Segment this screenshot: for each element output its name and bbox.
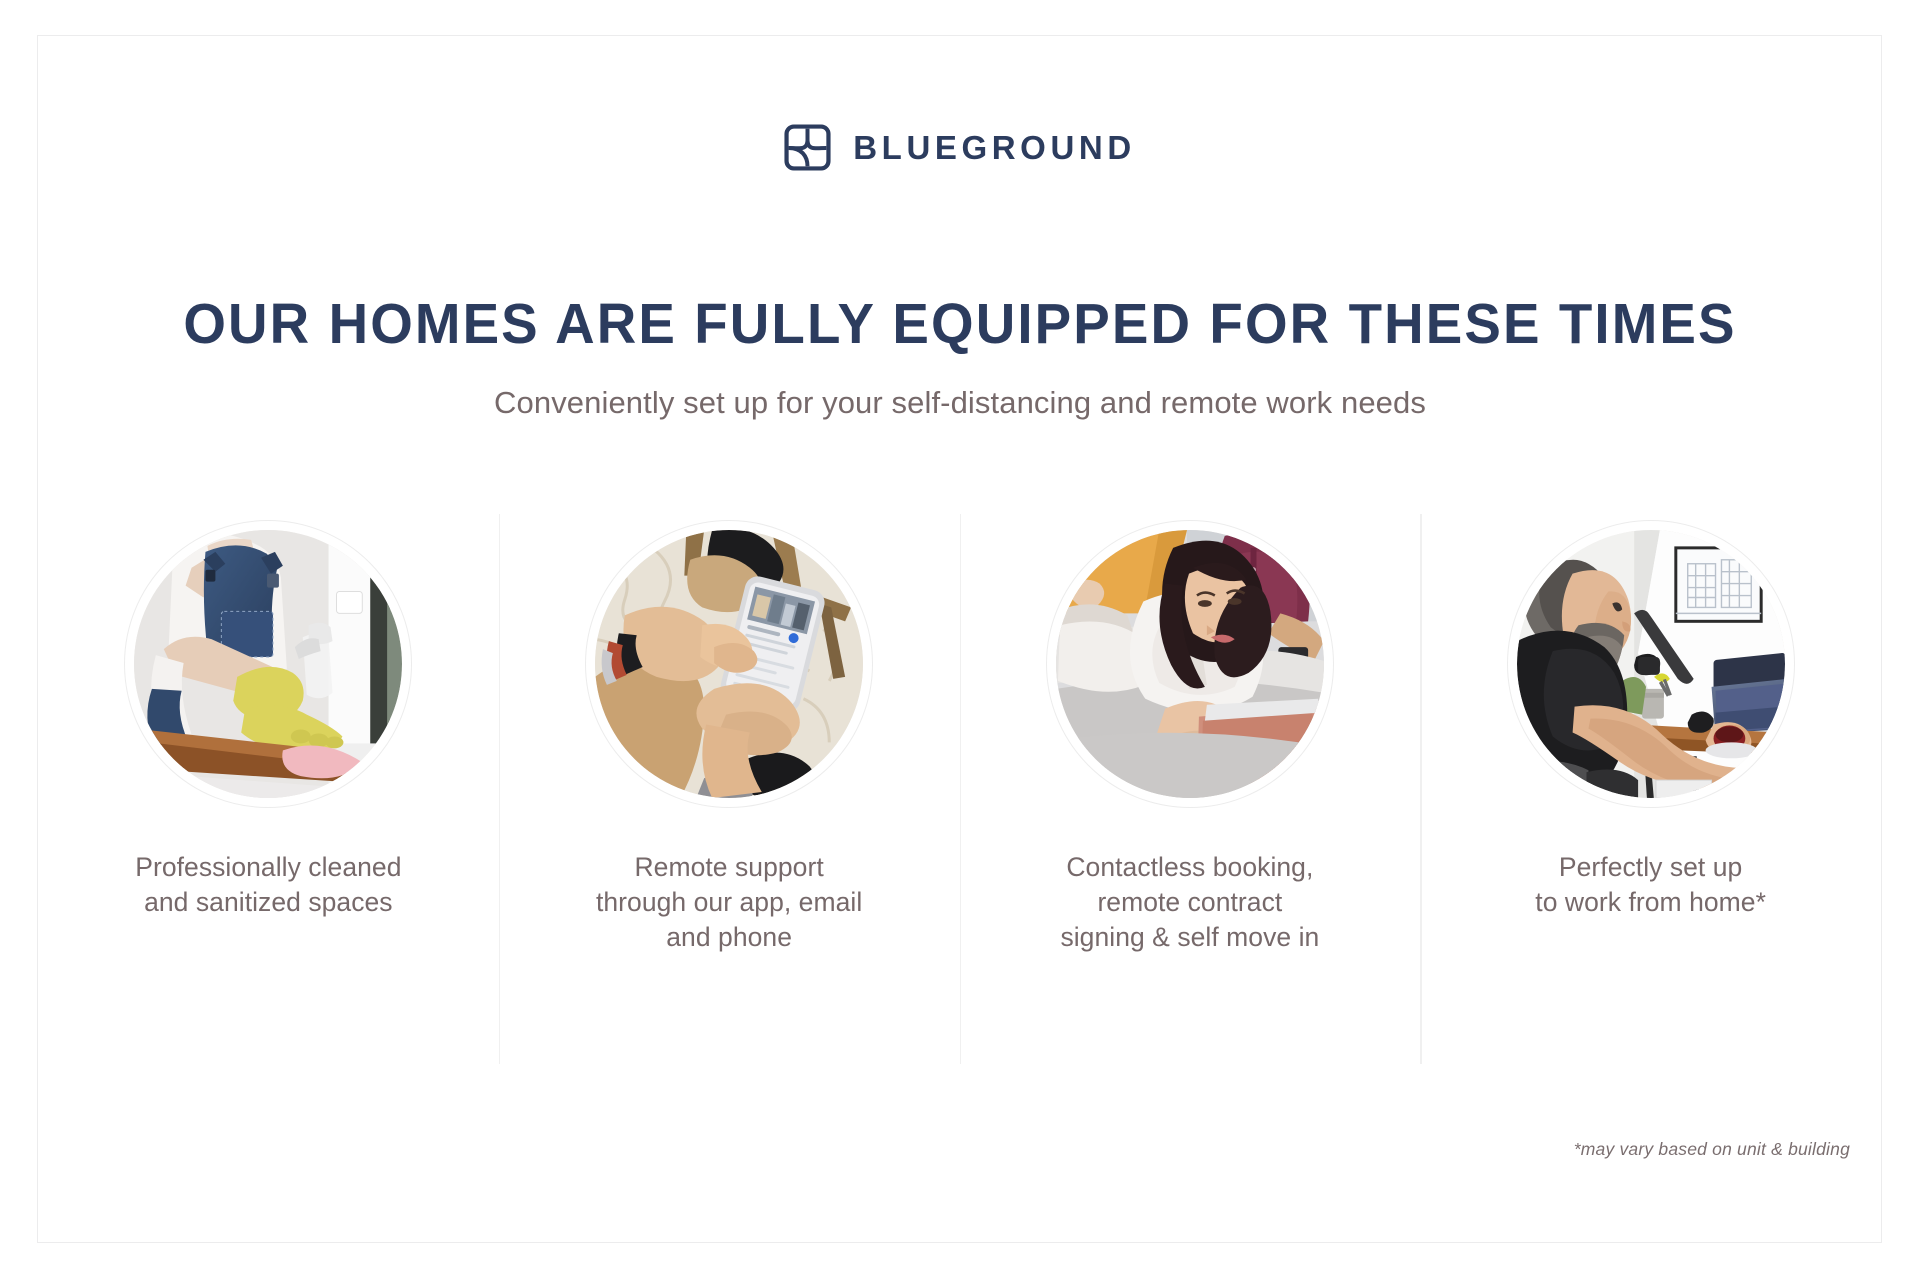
feature-photo-frame xyxy=(1507,520,1795,808)
blueground-logo-icon xyxy=(784,124,831,171)
feature-column-contactless-booking: Contactless booking, remote contract sig… xyxy=(960,514,1421,1064)
photo-work-from-home xyxy=(1517,530,1785,798)
feature-photo-frame xyxy=(585,520,873,808)
page-subtitle: Conveniently set up for your self-distan… xyxy=(0,384,1920,421)
poster-canvas: BLUEGROUND OUR HOMES ARE FULLY EQUIPPED … xyxy=(0,0,1920,1280)
feature-columns: Professionally cleaned and sanitized spa… xyxy=(38,514,1881,1064)
feature-photo-frame xyxy=(1046,520,1334,808)
footnote-disclaimer: *may vary based on unit & building xyxy=(1574,1139,1850,1160)
brand-wordmark: BLUEGROUND xyxy=(853,131,1136,164)
photo-contactless-booking xyxy=(1056,530,1324,798)
feature-caption: Professionally cleaned and sanitized spa… xyxy=(135,850,401,920)
photo-remote-support xyxy=(595,530,863,798)
feature-column-remote-support: Remote support through our app, email an… xyxy=(499,514,960,1064)
feature-caption: Contactless booking, remote contract sig… xyxy=(1060,850,1319,956)
feature-caption: Remote support through our app, email an… xyxy=(596,850,862,956)
photo-cleaning xyxy=(134,530,402,798)
brand-lockup: BLUEGROUND xyxy=(0,124,1920,171)
feature-column-work-from-home: Perfectly set up to work from home* xyxy=(1420,514,1881,1064)
feature-caption: Perfectly set up to work from home* xyxy=(1535,850,1766,920)
page-title: OUR HOMES ARE FULLY EQUIPPED FOR THESE T… xyxy=(38,296,1881,353)
feature-photo-frame xyxy=(124,520,412,808)
feature-column-cleaning: Professionally cleaned and sanitized spa… xyxy=(38,514,499,1064)
